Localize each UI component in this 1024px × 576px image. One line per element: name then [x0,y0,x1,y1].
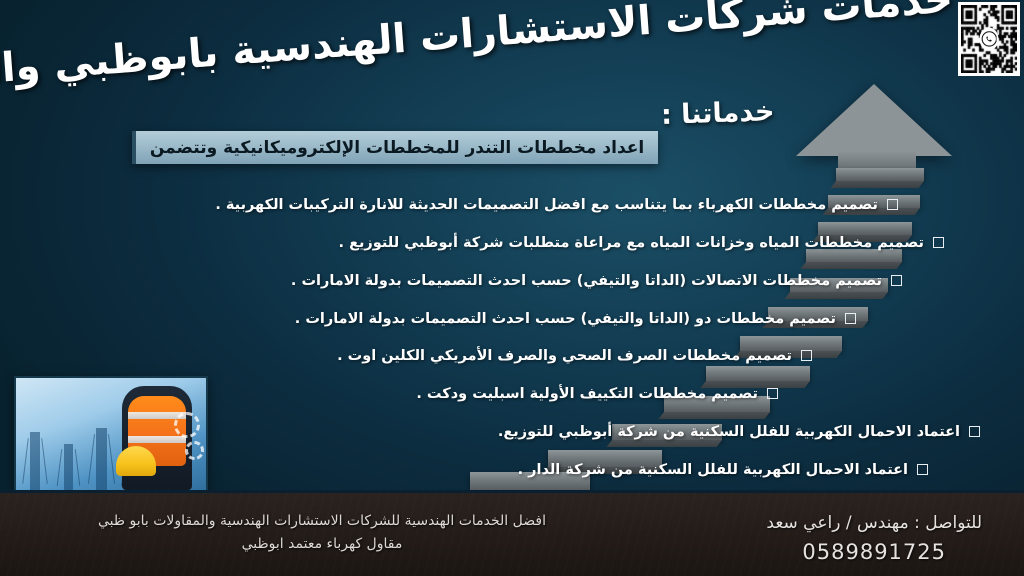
list-item: تصميم مخططات التكييف الأولية اسبليت ودكت… [324,385,1024,404]
list-item-label: اعتماد الاحمال الكهربية للفلل السكنية من… [518,461,908,480]
list-item: اعتماد الاحمال الكهربية للفلل السكنية من… [324,423,1024,442]
list-item: تصميم مخططات المياه وخزانات المياه مع مر… [324,234,1024,253]
phone-number[interactable]: 0589891725 [766,536,982,569]
tagline-line-2: مقاول كهرباء معتمد ابوظبي [0,533,644,556]
whatsapp-qr-code-top[interactable] [958,2,1020,76]
tagline-line-1: افضل الخدمات الهندسية للشركات الاستشارات… [0,510,644,533]
poster-canvas: خدمات شركات الاستشارات الهندسية بابوظبي … [0,0,1024,576]
footer-divider [0,490,1024,493]
list-item-label: تصميم مخططات دو (الداتا والتيفي) حسب احد… [295,310,836,329]
list-item: تصميم مخططات دو (الداتا والتيفي) حسب احد… [324,310,1024,329]
gear-icon [174,412,200,438]
arrow-shaft [838,152,916,168]
list-item: تصميم مخططات الصرف الصحي والصرف الأمريكي… [324,347,1024,366]
checkbox-icon [845,313,856,324]
whatsapp-icon [979,27,998,50]
list-item-label: تصميم مخططات الكهرباء بما يتناسب مع افضل… [215,196,878,215]
page-title: خدمات شركات الاستشارات الهندسية بابوظبي … [0,0,1024,91]
footer-bar: للتواصل : مهندس / راعي سعد 0589891725 اف… [0,490,1024,576]
checkbox-icon [887,199,898,210]
contact-block: للتواصل : مهندس / راعي سعد 0589891725 [766,510,982,569]
list-item-label: تصميم مخططات المياه وخزانات المياه مع مر… [339,234,924,253]
checkbox-icon [891,275,902,286]
arrow-head-icon [796,84,952,156]
stair-step [836,168,924,181]
services-list: تصميم مخططات الكهرباء بما يتناسب مع افضل… [324,196,1024,499]
checkbox-icon [933,237,944,248]
list-item: اعتماد الاحمال الكهربية للفلل السكنية من… [324,461,1024,480]
checkbox-icon [767,388,778,399]
footer-tagline: افضل الخدمات الهندسية للشركات الاستشارات… [0,510,644,556]
engineer-photo [14,376,208,492]
highlight-banner: اعداد مخططات التندر للمخططات الإلكتروميك… [132,131,658,164]
list-item: تصميم مخططات الاتصالات (الداتا والتيفي) … [324,272,1024,291]
gear-icon [185,441,204,460]
list-item: تصميم مخططات الكهرباء بما يتناسب مع افضل… [324,196,1024,215]
list-item-label: تصميم مخططات التكييف الأولية اسبليت ودكت… [416,385,758,404]
services-heading: خدماتنا : [660,96,774,131]
checkbox-icon [917,464,928,475]
list-item-label: تصميم مخططات الاتصالات (الداتا والتيفي) … [291,272,882,291]
power-pylon-shape [96,428,107,490]
contact-label: للتواصل : مهندس / راعي سعد [766,510,982,536]
power-pylon-shape [30,432,40,490]
checkbox-icon [969,426,980,437]
list-item-label: تصميم مخططات الصرف الصحي والصرف الأمريكي… [337,347,792,366]
list-item-label: اعتماد الاحمال الكهربية للفلل السكنية من… [498,423,960,442]
checkbox-icon [801,350,812,361]
vest-stripe [128,436,186,443]
power-pylon-shape [64,444,73,490]
